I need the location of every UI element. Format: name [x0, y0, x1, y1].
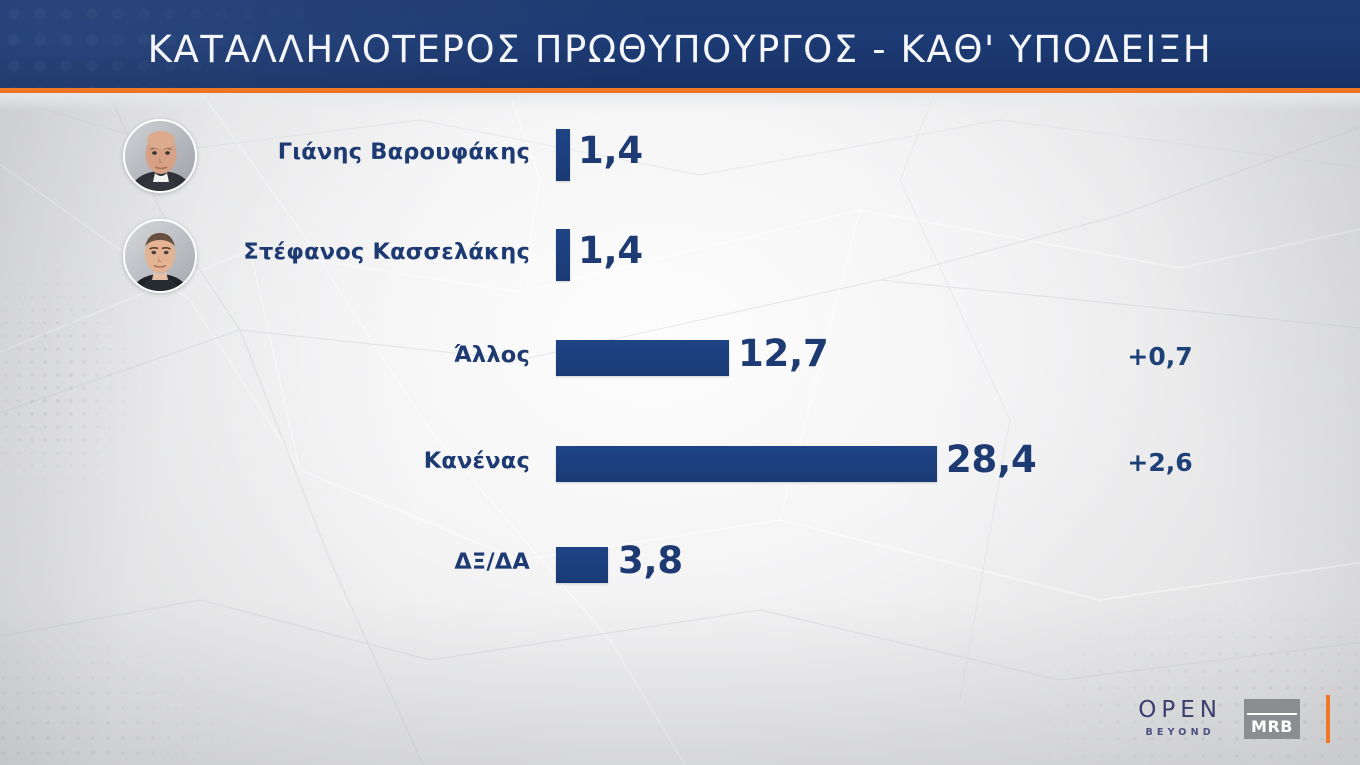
- bar: [556, 340, 729, 376]
- header-bar: ΚΑΤΑΛΛΗΛΟΤΕΡΟΣ ΠΡΩΘΥΠΟΥΡΓΟΣ - ΚΑΘ' ΥΠΟΔΕ…: [0, 0, 1360, 88]
- row-label: Στέφανος Κασσελάκης: [210, 239, 530, 265]
- footer-logos: OPEN BEYOND MRB: [1138, 695, 1330, 743]
- bar: [556, 129, 570, 181]
- header-under-sheen: [0, 93, 1360, 111]
- bar-value: 3,8: [618, 539, 683, 582]
- row-label: ΔΞ/ΔΑ: [210, 549, 530, 575]
- chart-row: Γιάνης Βαρουφάκης 1,4: [0, 111, 1360, 197]
- open-logo-word: OPEN: [1138, 699, 1222, 722]
- bar-chart: Γιάνης Βαρουφάκης 1,4: [0, 111, 1360, 671]
- page-title: ΚΑΤΑΛΛΗΛΟΤΕΡΟΣ ΠΡΩΘΥΠΟΥΡΓΟΣ - ΚΑΘ' ΥΠΟΔΕ…: [0, 28, 1360, 71]
- chart-row: ΔΞ/ΔΑ 3,8: [0, 521, 1360, 607]
- avatar-stefanos-kasselakis: [123, 219, 197, 293]
- bar-value: 1,4: [578, 129, 643, 172]
- mrb-logo-bar: [1247, 702, 1297, 715]
- chart-row: Στέφανος Κασσελάκης 1,4: [0, 211, 1360, 297]
- row-label: Άλλος: [210, 342, 530, 368]
- bar-delta: +2,6: [1085, 448, 1235, 477]
- row-label: Κανένας: [210, 448, 530, 474]
- mrb-logo: MRB: [1244, 699, 1300, 739]
- bar-value: 1,4: [578, 229, 643, 272]
- bar-delta: +0,7: [1085, 342, 1235, 371]
- avatar-giannis-varoufakis: [123, 119, 197, 193]
- bar: [556, 229, 570, 281]
- open-beyond-logo: OPEN BEYOND: [1138, 699, 1222, 740]
- bar: [556, 547, 608, 583]
- broadcast-poll-graphic: ΚΑΤΑΛΛΗΛΟΤΕΡΟΣ ΠΡΩΘΥΠΟΥΡΓΟΣ - ΚΑΘ' ΥΠΟΔΕ…: [0, 0, 1360, 765]
- bar: [556, 446, 937, 482]
- open-logo-subtitle: BEYOND: [1138, 728, 1222, 738]
- bar-value: 28,4: [946, 438, 1037, 481]
- row-label: Γιάνης Βαρουφάκης: [210, 139, 530, 165]
- chart-row: Άλλος 12,7 +0,7: [0, 314, 1360, 400]
- mrb-logo-text: MRB: [1247, 717, 1297, 736]
- bar-value: 12,7: [738, 332, 829, 375]
- orange-tick-mark: [1326, 695, 1330, 743]
- chart-row: Κανένας 28,4 +2,6: [0, 420, 1360, 506]
